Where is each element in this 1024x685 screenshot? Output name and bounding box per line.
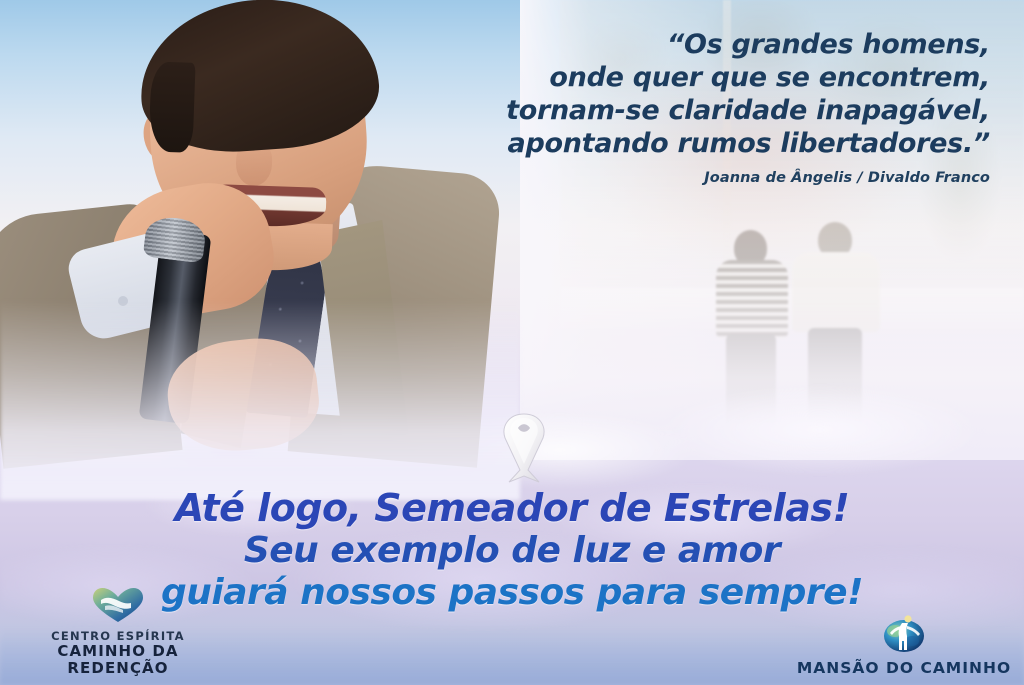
quote-line-3: tornam-se claridade inapagável,	[420, 94, 990, 127]
logo-centro-espirita: CENTRO ESPÍRITA CAMINHO DA REDENÇÃO	[8, 586, 228, 677]
logo-left-line-2: CAMINHO DA REDENÇÃO	[8, 643, 228, 677]
globe-figure-icon	[794, 614, 1014, 658]
portrait-divaldo-franco	[0, 0, 470, 470]
white-ribbon-icon	[487, 408, 561, 486]
quote-line-4: apontando rumos libertadores.”	[420, 127, 990, 160]
logo-right-line-2: MANSÃO DO CAMINHO	[794, 660, 1014, 677]
headline-line-1: Até logo, Semeador de Estrelas!	[0, 486, 1024, 530]
quote-line-2: onde quer que se encontrem,	[420, 61, 990, 94]
headline-line-2: Seu exemplo de luz e amor	[0, 530, 1024, 572]
quote-line-1: “Os grandes homens,	[420, 28, 990, 61]
quote-block: “Os grandes homens, onde quer que se enc…	[420, 28, 990, 160]
memorial-poster: “Os grandes homens, onde quer que se enc…	[0, 0, 1024, 685]
heart-hands-icon	[8, 586, 228, 628]
quote-attribution: Joanna de Ângelis / Divaldo Franco	[420, 170, 990, 186]
logo-mansao-do-caminho: MANSÃO DO CAMINHO	[794, 614, 1014, 677]
portrait-cloud-fade	[0, 300, 520, 500]
